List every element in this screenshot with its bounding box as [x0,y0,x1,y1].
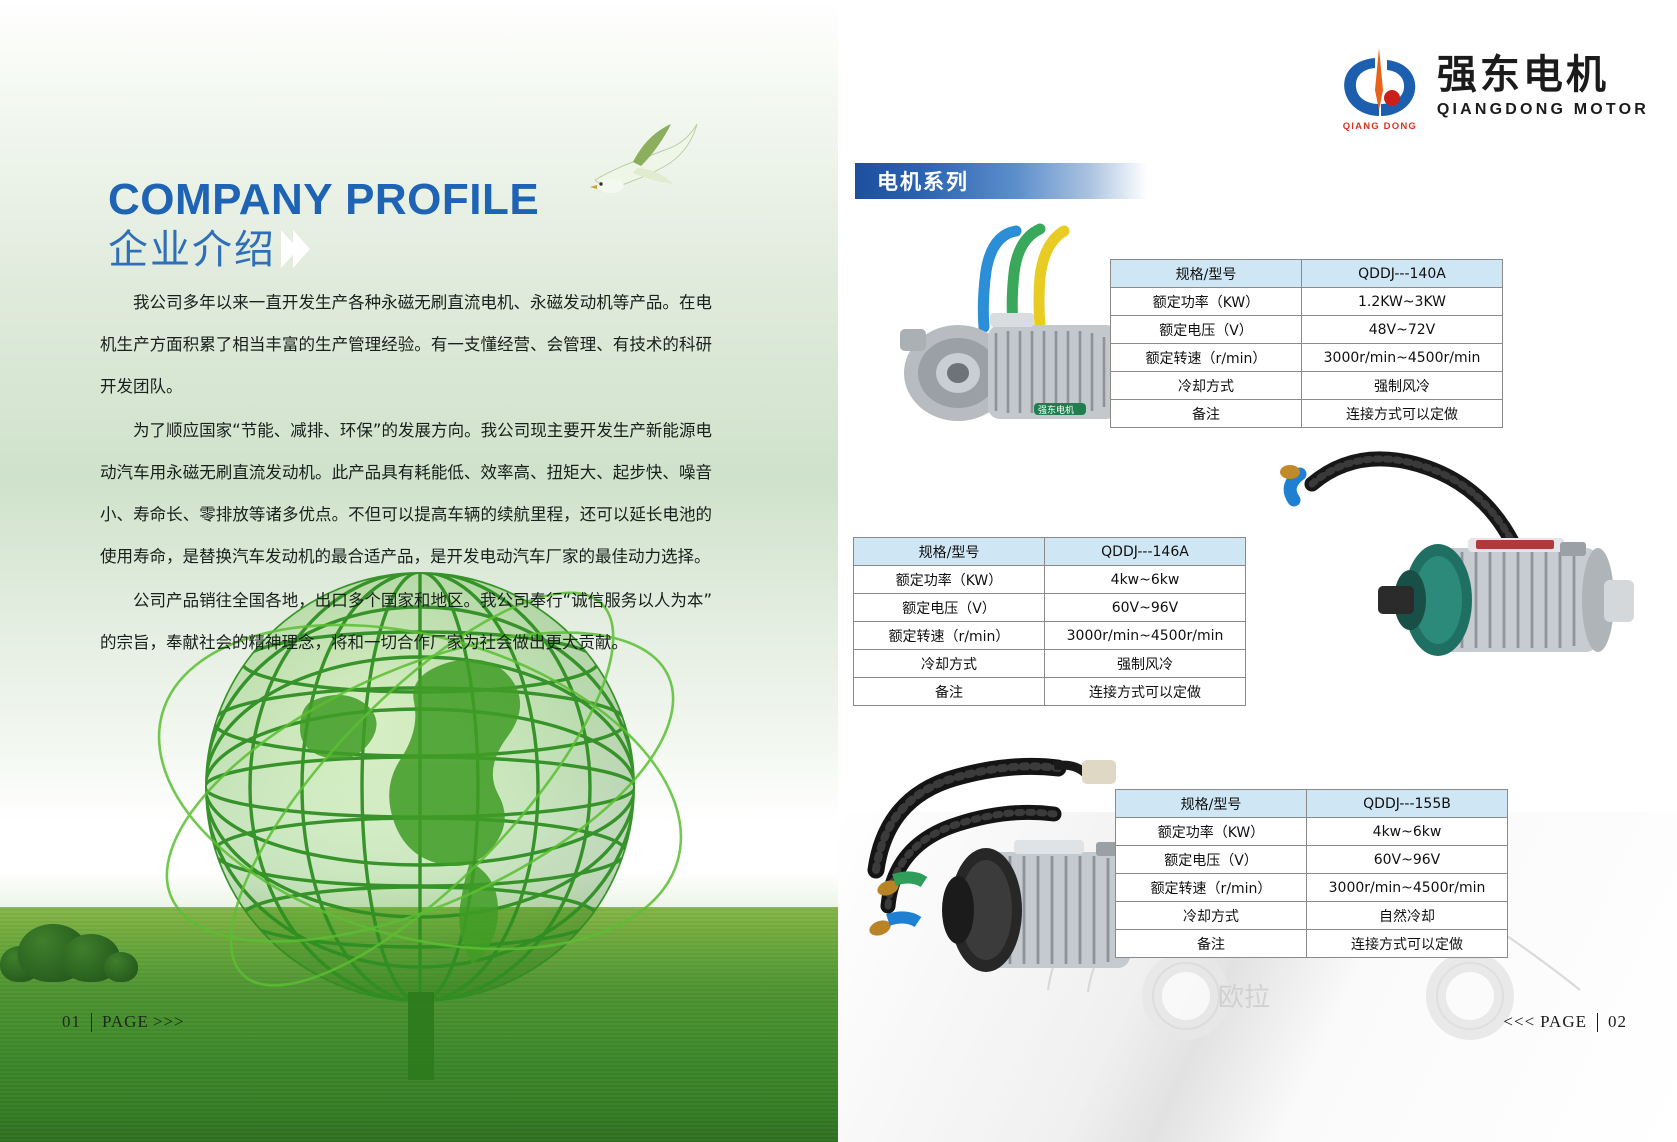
brand-name-en: QIANGDONG MOTOR [1437,101,1649,119]
table-row: 额定电压（V） 60V~96V [1116,846,1508,874]
spec-key: 额定功率（KW） [1111,288,1302,316]
footer-divider [1597,1013,1598,1032]
footer-arrows-left-icon: <<< [1503,1012,1535,1032]
table-row: 额定转速（r/min） 3000r/min~4500r/min [1111,344,1503,372]
company-profile-text: 我公司多年以来一直开发生产各种永磁无刷直流电机、永磁发动机等产品。在电机生产方面… [100,282,712,666]
table-row: 额定电压（V） 48V~72V [1111,316,1503,344]
spec-key: 备注 [854,678,1045,706]
spec-key: 冷却方式 [854,650,1045,678]
table-row: 额定电压（V） 60V~96V [854,594,1246,622]
spec-value: 连接方式可以定做 [1045,678,1246,706]
table-row: 规格/型号 QDDJ---155B [1116,790,1508,818]
spec-value: 1.2KW~3KW [1302,288,1503,316]
spec-key: 额定电压（V） [854,594,1045,622]
page-title-en: COMPANY PROFILE [108,178,539,222]
spec-key: 额定电压（V） [1116,846,1307,874]
brand-name-cn: 强东电机 [1437,55,1649,95]
left-page: COMPANY PROFILE 企业介绍 我公司多年以来一直开发生产各种永磁无刷… [0,0,838,1142]
tree-icon [104,952,138,982]
page-number-right: 02 [1608,1012,1627,1032]
footer-divider [91,1013,92,1032]
motor-photo-146a [1260,430,1660,710]
spec-table-140a: 规格/型号 QDDJ---140A 额定功率（KW） 1.2KW~3KW 额定电… [1110,259,1503,428]
table-row: 额定功率（KW） 4kw~6kw [854,566,1246,594]
footer-page-word-right: PAGE [1540,1012,1587,1032]
spec-value: 4kw~6kw [1307,818,1508,846]
section-header-motor-series: 电机系列 [855,163,1147,199]
table-row: 备注 连接方式可以定做 [854,678,1246,706]
spec-value: 强制风冷 [1302,372,1503,400]
table-row: 额定功率（KW） 4kw~6kw [1116,818,1508,846]
spec-table-146a: 规格/型号 QDDJ---146A 额定功率（KW） 4kw~6kw 额定电压（… [853,537,1246,706]
table-row: 额定功率（KW） 1.2KW~3KW [1111,288,1503,316]
spec-value: 3000r/min~4500r/min [1045,622,1246,650]
footer-right: <<< PAGE 02 [1503,1012,1627,1032]
qiangdong-logo-icon: QIANG DONG [1337,44,1423,130]
table-row: 冷却方式 强制风冷 [854,650,1246,678]
svg-text:强东电机: 强东电机 [1038,404,1074,416]
spec-key: 额定功率（KW） [854,566,1045,594]
brand-wordmark: 强东电机 QIANGDONG MOTOR [1437,55,1649,119]
right-page: 欧拉 QIANG DONG 强东电机 QIANGDONG MOTOR 电机系列 [838,0,1677,1142]
spec-key: 额定转速（r/min） [1111,344,1302,372]
spec-key: 冷却方式 [1116,902,1307,930]
spec-table-155b: 规格/型号 QDDJ---155B 额定功率（KW） 4kw~6kw 额定电压（… [1115,789,1508,958]
section-title-label: 电机系列 [877,166,969,196]
table-row: 规格/型号 QDDJ---140A [1111,260,1503,288]
spec-value: QDDJ---146A [1045,538,1246,566]
table-row: 备注 连接方式可以定做 [1116,930,1508,958]
spec-value: 4kw~6kw [1045,566,1246,594]
spec-key: 备注 [1116,930,1307,958]
chevron-right-icon [286,230,310,268]
table-row: 规格/型号 QDDJ---146A [854,538,1246,566]
spec-value: 60V~96V [1045,594,1246,622]
spec-key: 额定转速（r/min） [854,622,1045,650]
spec-value: 48V~72V [1302,316,1503,344]
footer-arrows-right-icon: >>> [153,1012,185,1032]
brand-logo: QIANG DONG 强东电机 QIANGDONG MOTOR [1337,44,1649,130]
table-row: 备注 连接方式可以定做 [1111,400,1503,428]
profile-paragraph: 为了顺应国家“节能、减排、环保”的发展方向。我公司现主要开发生产新能源电动汽车用… [100,410,712,578]
spec-value: 3000r/min~4500r/min [1302,344,1503,372]
spec-key: 备注 [1111,400,1302,428]
dove-icon [575,110,705,215]
svg-text:欧拉: 欧拉 [1218,983,1270,1013]
spec-value: 连接方式可以定做 [1302,400,1503,428]
footer-page-word-left: PAGE [102,1012,149,1032]
spec-key: 额定转速（r/min） [1116,874,1307,902]
profile-paragraph: 公司产品销往全国各地，出口多个国家和地区。我公司奉行“诚信服务以人为本”的宗旨，… [100,580,712,664]
spec-value: 3000r/min~4500r/min [1307,874,1508,902]
table-row: 额定转速（r/min） 3000r/min~4500r/min [1116,874,1508,902]
motor-photo-140a: 强东电机 [838,205,1138,445]
spec-value: QDDJ---155B [1307,790,1508,818]
spec-key: 额定功率（KW） [1116,818,1307,846]
page-number-left: 01 [62,1012,81,1032]
page-title-cn: 企业介绍 [108,228,276,272]
spec-key: 冷却方式 [1111,372,1302,400]
table-row: 冷却方式 自然冷却 [1116,902,1508,930]
spec-key: 规格/型号 [1111,260,1302,288]
logo-caption: QIANG DONG [1337,121,1423,132]
profile-paragraph: 我公司多年以来一直开发生产各种永磁无刷直流电机、永磁发动机等产品。在电机生产方面… [100,282,712,408]
spec-value: QDDJ---140A [1302,260,1503,288]
table-row: 冷却方式 强制风冷 [1111,372,1503,400]
spec-value: 自然冷却 [1307,902,1508,930]
spec-key: 规格/型号 [1116,790,1307,818]
spec-key: 规格/型号 [854,538,1045,566]
footer-left: 01 PAGE >>> [62,1012,185,1032]
spec-value: 连接方式可以定做 [1307,930,1508,958]
spec-value: 强制风冷 [1045,650,1246,678]
brochure-spread: COMPANY PROFILE 企业介绍 我公司多年以来一直开发生产各种永磁无刷… [0,0,1677,1142]
left-page-heading: COMPANY PROFILE 企业介绍 [108,178,539,272]
spec-value: 60V~96V [1307,846,1508,874]
spec-key: 额定电压（V） [1111,316,1302,344]
table-row: 额定转速（r/min） 3000r/min~4500r/min [854,622,1246,650]
